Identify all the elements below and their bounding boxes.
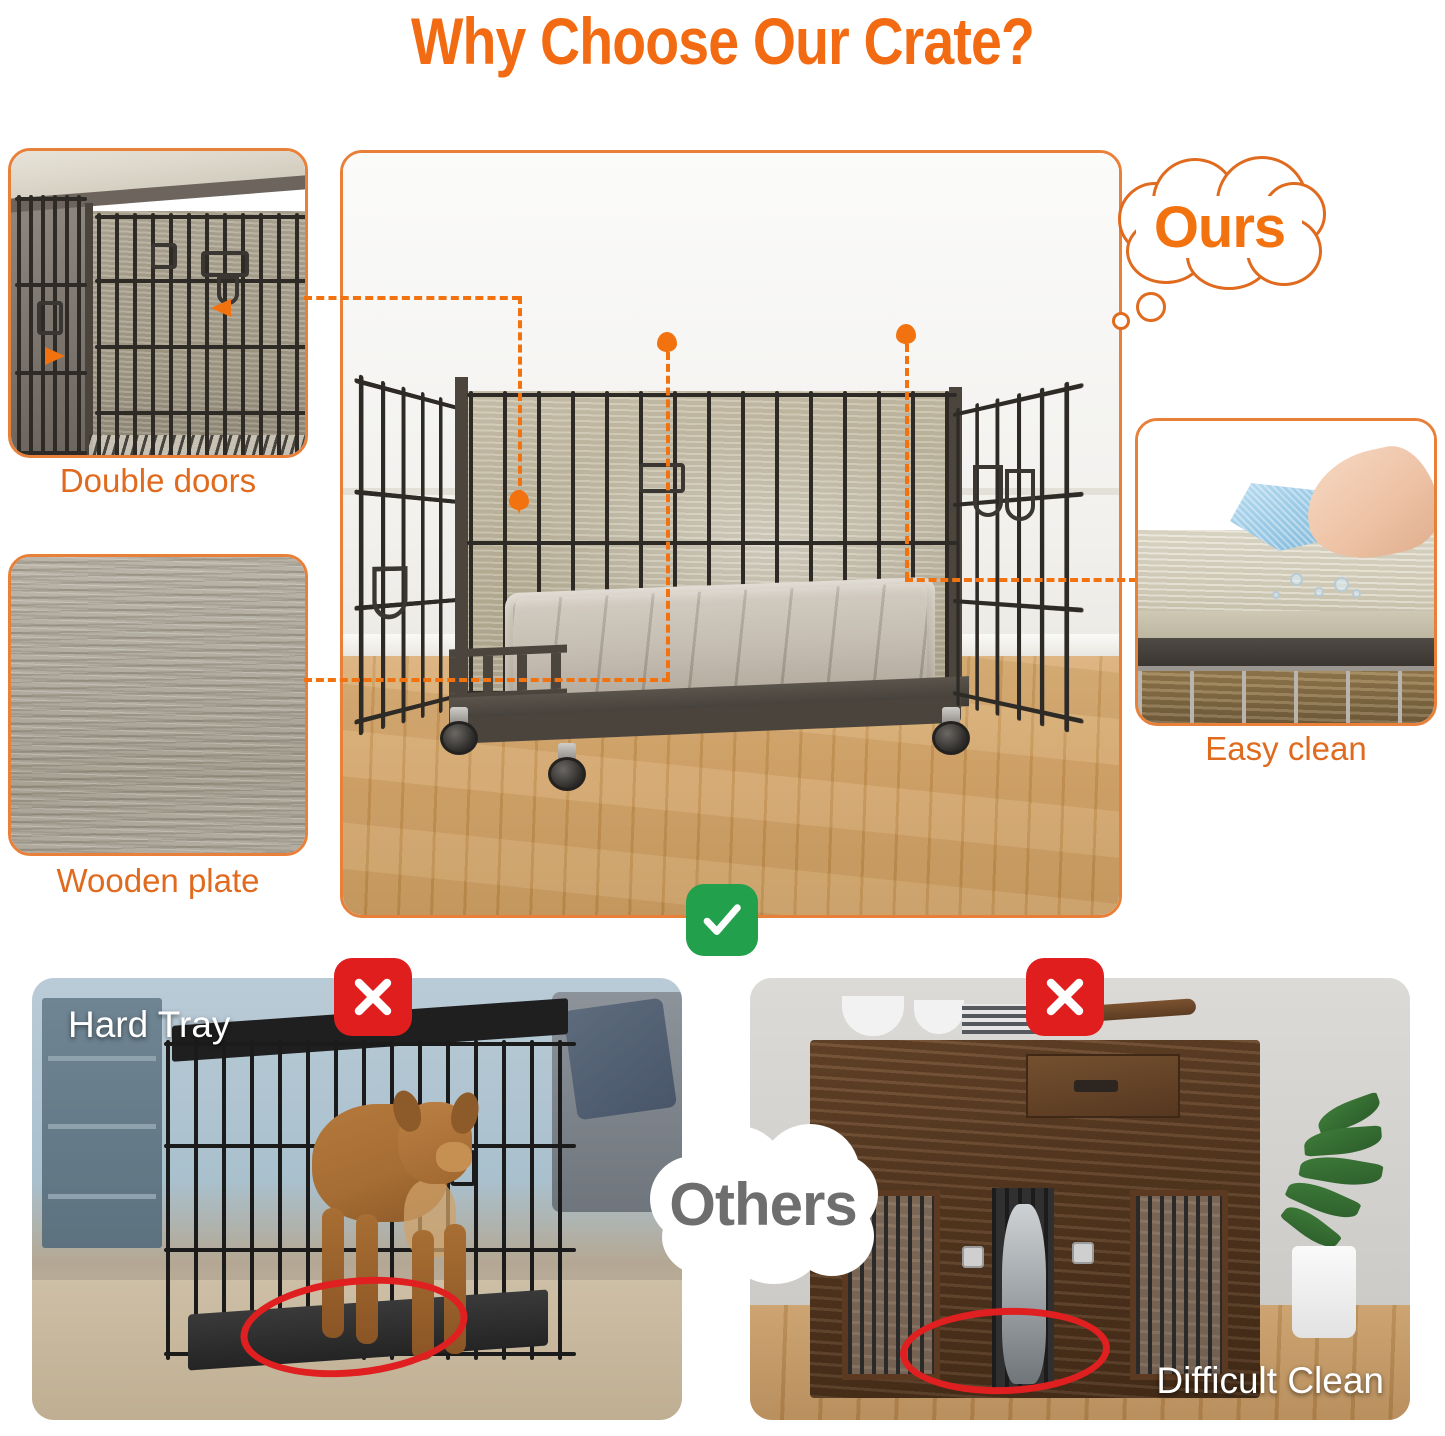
bubble-others: Others bbox=[646, 1122, 880, 1288]
callout-line-easy-clean bbox=[905, 578, 1137, 582]
double-doors-photo bbox=[11, 151, 305, 455]
latch-arrow-right-icon bbox=[211, 299, 231, 317]
door-latch-left bbox=[37, 301, 63, 335]
callout-pin-double-doors bbox=[509, 490, 529, 510]
crate-latch-front bbox=[639, 463, 685, 493]
latch-arrow-left-icon bbox=[45, 347, 65, 365]
caption-easy-clean: Easy clean bbox=[1135, 730, 1437, 768]
feature-panel-double-doors[interactable] bbox=[8, 148, 308, 458]
caption-wooden-plate: Wooden plate bbox=[8, 862, 308, 900]
infographic-root: Why Choose Our Crate? bbox=[0, 0, 1445, 1436]
callout-line-double-doors bbox=[304, 296, 520, 300]
check-icon bbox=[686, 884, 758, 956]
callout-line-double-doors-v bbox=[518, 296, 522, 498]
crate-illustration bbox=[401, 335, 1041, 805]
cross-icon bbox=[1026, 958, 1104, 1036]
callout-pin-easy-clean bbox=[896, 324, 916, 344]
feature-panel-wooden-plate[interactable] bbox=[8, 554, 308, 856]
overlay-label-hard-tray: Hard Tray bbox=[68, 1004, 230, 1046]
bubble-others-label: Others bbox=[646, 1170, 880, 1239]
callout-pin-wooden-plate bbox=[657, 332, 677, 352]
door-latch-right bbox=[201, 251, 249, 277]
bubble-ours-label: Ours bbox=[1112, 194, 1327, 261]
feature-panel-easy-clean[interactable] bbox=[1135, 418, 1437, 726]
bubble-tail-circle-large bbox=[1136, 292, 1166, 322]
comparison-panel-wire-crate[interactable]: Hard Tray bbox=[32, 978, 682, 1420]
caster-wheel bbox=[547, 743, 587, 791]
bubble-ours: Ours bbox=[1112, 156, 1327, 296]
wooden-plate-texture bbox=[11, 557, 305, 853]
page-title: Why Choose Our Crate? bbox=[116, 2, 1330, 80]
cross-icon bbox=[334, 958, 412, 1036]
caster-wheel bbox=[439, 707, 479, 755]
main-product-photo bbox=[343, 153, 1119, 915]
bubble-tail-circle-small bbox=[1112, 312, 1130, 330]
overlay-label-difficult-clean: Difficult Clean bbox=[1156, 1360, 1384, 1402]
easy-clean-photo bbox=[1138, 421, 1434, 723]
main-product-panel[interactable] bbox=[340, 150, 1122, 918]
callout-line-easy-clean-v bbox=[905, 344, 909, 580]
door-latch-mid bbox=[151, 243, 177, 269]
plant bbox=[1264, 1098, 1384, 1338]
callout-line-wooden-plate-v bbox=[666, 352, 670, 680]
caption-double-doors: Double doors bbox=[8, 462, 308, 500]
callout-line-wooden-plate bbox=[304, 678, 670, 682]
caster-wheel bbox=[931, 707, 971, 755]
